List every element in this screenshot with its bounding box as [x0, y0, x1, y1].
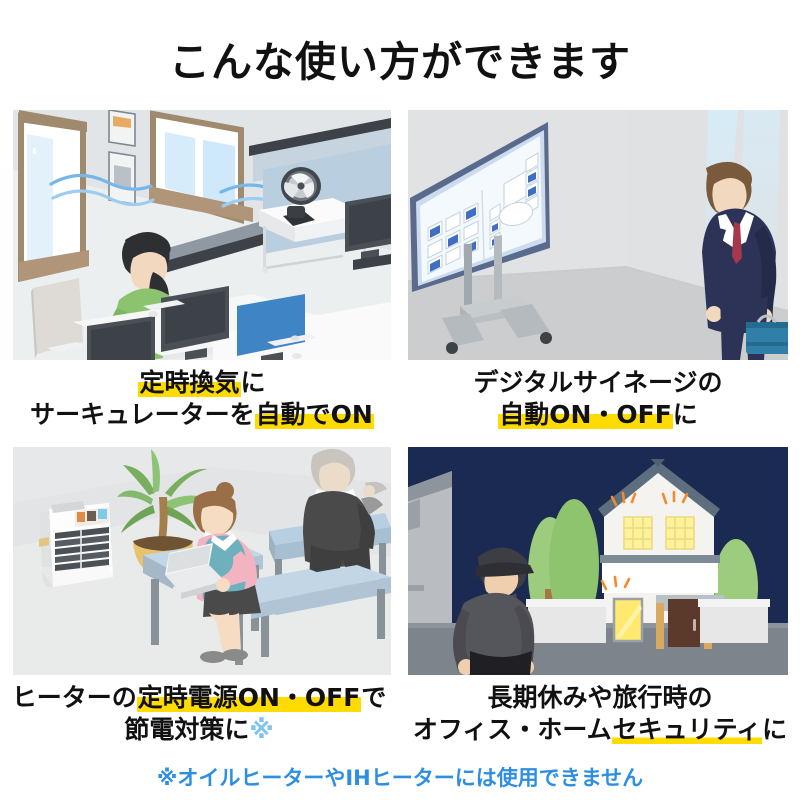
asterisk-mark-icon: ※ [249, 715, 273, 744]
caption-seg: 長期休みや旅行時の [487, 683, 712, 712]
page-title: こんな使い方ができます [0, 28, 800, 88]
caption-line-1: デジタルサイネージの [408, 367, 788, 399]
caption-line-2: サーキュレーターを自動でON [13, 399, 391, 431]
caption-seg: で [361, 683, 386, 712]
caption-seg: オフィス・ホーム [413, 715, 612, 744]
waiting-room-heater-illustration [13, 447, 391, 675]
panel-home-security [408, 447, 788, 675]
caption-line-1: ヒーターの定時電源ON・OFFで [0, 682, 398, 714]
caption-office-circulator: 定時換気に サーキュレーターを自動でON [13, 367, 391, 430]
footnote-text: ※オイルヒーターやIHヒーターには使用できません [0, 762, 800, 792]
caption-seg: 節電対策に [124, 715, 249, 744]
caption-seg: に [762, 715, 787, 744]
digital-signage-businessman-illustration [408, 110, 788, 360]
caption-line-2: 自動ON・OFFに [408, 399, 788, 431]
caption-seg: 自動ON・OFF [498, 400, 673, 429]
caption-digital-signage: デジタルサイネージの 自動ON・OFFに [408, 367, 788, 430]
caption-seg: に [241, 368, 266, 397]
caption-heater-waiting-room: ヒーターの定時電源ON・OFFで 節電対策に※ [0, 682, 398, 745]
caption-seg: ヒーターの [12, 683, 137, 712]
caption-seg: 自動でON [255, 400, 374, 429]
caption-line-1: 定時換気に [13, 367, 391, 399]
caption-seg: デジタルサイネージの [473, 368, 722, 397]
caption-seg: に [673, 400, 698, 429]
panel-digital-signage [408, 110, 788, 360]
caption-seg: セキュリティ [612, 715, 763, 744]
caption-line-2: 節電対策に※ [0, 714, 398, 746]
caption-seg: 定時電源ON・OFF [137, 683, 362, 712]
caption-home-security: 長期休みや旅行時の オフィス・ホームセキュリティに [404, 682, 796, 745]
caption-line-1: 長期休みや旅行時の [404, 682, 796, 714]
infographic-page: こんな使い方ができます [0, 0, 800, 800]
panel-office-circulator [13, 110, 391, 360]
caption-line-2: オフィス・ホームセキュリティに [404, 714, 796, 746]
caption-seg: 定時換気 [138, 368, 240, 397]
panel-heater-waiting-room [13, 447, 391, 675]
night-house-security-illustration [408, 447, 788, 675]
office-window-circulator-illustration [13, 110, 391, 360]
caption-seg: サーキュレーターを [30, 400, 255, 429]
